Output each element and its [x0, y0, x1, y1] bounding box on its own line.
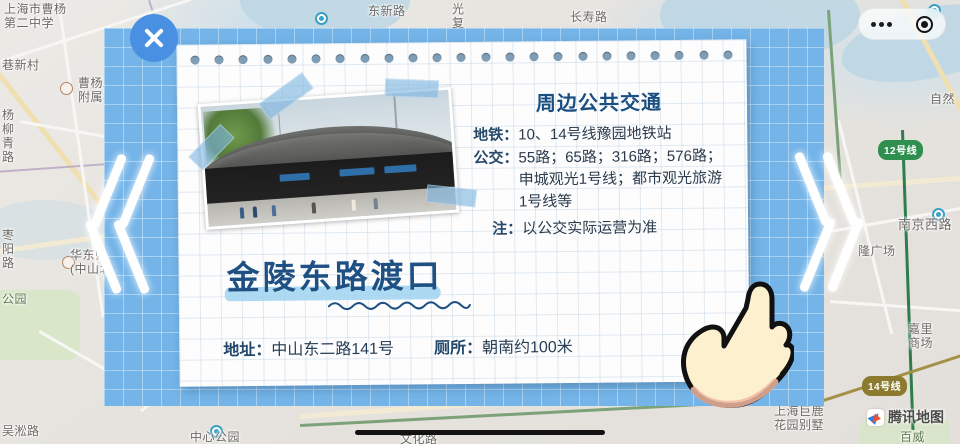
- punch-hole: [433, 53, 442, 62]
- punch-hole: [215, 55, 224, 64]
- punch-hole: [675, 51, 684, 60]
- punch-hole: [190, 56, 199, 65]
- map-label: 自然: [930, 92, 955, 106]
- map-metro-station[interactable]: [315, 12, 328, 25]
- punch-hole: [602, 52, 611, 61]
- map-poi-marker[interactable]: [60, 82, 73, 95]
- map-label: 枣 阳 路: [2, 228, 15, 270]
- map-label: 东新路: [368, 4, 406, 18]
- transit-row: 地铁：10、14号线豫园地铁站: [473, 122, 725, 146]
- punch-hole: [384, 54, 393, 63]
- info-card[interactable]: 周边公共交通 地铁：10、14号线豫园地铁站公交：55路；65路；316路；57…: [176, 39, 749, 386]
- miniprogram-capsule[interactable]: [858, 8, 946, 40]
- transit-row-value: 以公交实际运营为准: [522, 216, 726, 240]
- punch-hole: [481, 53, 490, 62]
- pointing-hand-cursor: [672, 272, 794, 408]
- app-screen: 上海市曹杨 第二中学曹杨路东新路长寿路光 复 路巷新村曹杨二中 附属学校杨 柳 …: [0, 0, 960, 444]
- punch-hole: [723, 50, 732, 59]
- address-item-key: 地址：: [223, 342, 271, 359]
- punch-hole: [239, 55, 248, 64]
- terminal-photo[interactable]: [197, 87, 459, 230]
- punch-hole: [360, 54, 369, 63]
- target-circle-icon[interactable]: [916, 16, 933, 33]
- punch-hole: [336, 54, 345, 63]
- close-button[interactable]: [130, 14, 178, 62]
- punch-hole-row: [176, 50, 746, 64]
- punch-hole: [505, 53, 514, 62]
- map-label: 中心公园: [190, 430, 240, 444]
- punch-hole: [651, 51, 660, 60]
- map-label: 上海巨鹿 花园别墅: [774, 404, 824, 432]
- map-label: 百威: [900, 430, 925, 444]
- title-squiggle-underline: [327, 298, 471, 311]
- punch-hole: [554, 52, 563, 61]
- address-item-key: 厕所：: [434, 340, 482, 357]
- photo-person: [351, 200, 356, 211]
- punch-hole: [263, 55, 272, 64]
- transit-row-key: 地铁：: [473, 124, 518, 146]
- map-road: [830, 300, 960, 314]
- photo-person: [373, 198, 378, 209]
- map-attribution-label: 腾讯地图: [888, 407, 944, 427]
- compass-icon: [867, 409, 884, 426]
- transit-row: 注：以公交实际运营为准: [474, 216, 726, 240]
- map-line-badge[interactable]: 12号线: [878, 140, 923, 160]
- punch-hole: [408, 53, 417, 62]
- map-label: 上海市曹杨 第二中学: [4, 2, 67, 30]
- photo-person: [252, 206, 257, 217]
- address-item: 地址：中山东二路141号: [223, 335, 394, 361]
- address-item-value: 朝南约100米: [482, 339, 573, 357]
- map-label: 嘉里 商场: [908, 322, 933, 350]
- map-label: 长寿路: [570, 10, 608, 24]
- punch-hole: [626, 51, 635, 60]
- page-title: 金陵东路渡口: [226, 249, 442, 299]
- transit-section: 周边公共交通 地铁：10、14号线豫园地铁站公交：55路；65路；316路；57…: [473, 85, 726, 241]
- transit-row-value: 55路；65路；316路；576路；申城观光1号线；都市观光旅游1号线等: [518, 145, 726, 213]
- punch-hole: [312, 54, 321, 63]
- punch-hole: [699, 51, 708, 60]
- more-dots-icon[interactable]: [871, 22, 892, 27]
- home-indicator: [355, 430, 605, 435]
- address-item: 厕所：朝南约100米: [434, 333, 573, 358]
- map-label: 杨 柳 青 路: [2, 108, 15, 164]
- transit-title: 周边公共交通: [473, 85, 725, 116]
- transit-row-key: 注：: [492, 218, 522, 240]
- photo-person: [312, 202, 317, 213]
- transit-row-value: 10、14号线豫园地铁站: [518, 122, 725, 146]
- map-line-badge[interactable]: 14号线: [862, 376, 907, 396]
- map-label: 南京西路: [898, 218, 952, 232]
- map-label: 隆广场: [858, 244, 896, 258]
- map-label: 公园: [2, 292, 27, 306]
- map-road: [0, 20, 102, 204]
- tape-piece: [385, 78, 440, 98]
- punch-hole: [578, 52, 587, 61]
- map-label: 吴淞路: [2, 424, 40, 438]
- punch-hole: [287, 55, 296, 64]
- map-attribution: 腾讯地图: [867, 407, 944, 427]
- transit-rows: 地铁：10、14号线豫园地铁站公交：55路；65路；316路；576路；申城观光…: [473, 122, 726, 240]
- address-item-value: 中山东二路141号: [271, 341, 394, 359]
- address-row: 地址：中山东二路141号厕所：朝南约100米: [223, 332, 713, 361]
- map-label: 巷新村: [2, 58, 40, 72]
- punch-hole: [530, 52, 539, 61]
- transit-row: 公交：55路；65路；316路；576路；申城观光1号线；都市观光旅游1号线等: [473, 145, 726, 213]
- photo-image: [197, 87, 459, 230]
- punch-hole: [457, 53, 466, 62]
- transit-row-key: 公交：: [473, 147, 519, 213]
